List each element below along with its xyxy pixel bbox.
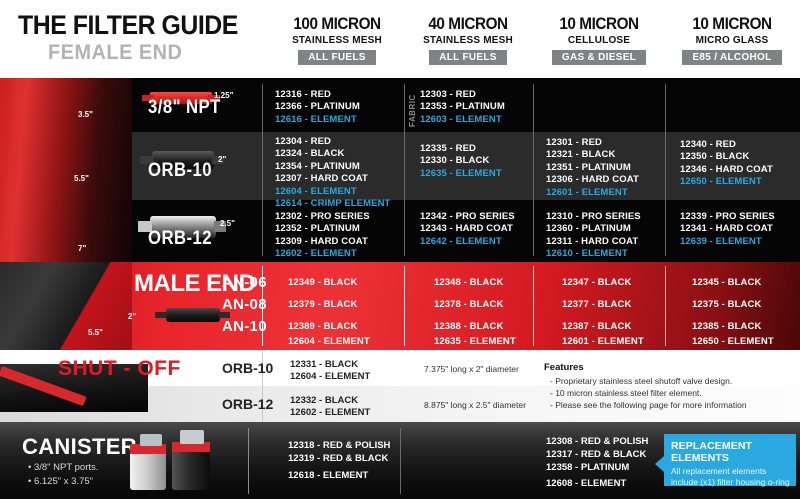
part-number: 12342 - PRO SERIES — [420, 211, 515, 223]
male-end-part-c4-r1: 12345 - BLACK — [692, 277, 761, 288]
canister-part-c3-1: 12308 - RED & POLISH — [546, 436, 648, 447]
canister-bullet: • 6.125" x 3.75" — [28, 476, 93, 487]
callout-title: REPLACEMENT ELEMENTS — [664, 434, 796, 464]
element-part-number: 12603 - ELEMENT — [420, 114, 505, 126]
male-end-part-c3-r1: 12347 - BLACK — [562, 277, 631, 288]
features-title: Features — [544, 362, 584, 373]
part-number: 12343 - HARD COAT — [420, 223, 515, 235]
element-part-number: 12602 - ELEMENT — [275, 248, 370, 260]
male-end-part-c1-r3: 12389 - BLACK — [288, 321, 357, 332]
column-material-label: STAINLESS MESH — [404, 35, 532, 46]
part-number: 12321 - BLACK — [546, 149, 639, 161]
part-number: 12311 - HARD COAT — [546, 236, 641, 248]
column-divider — [533, 84, 534, 256]
shut-off-part-orb12: 12332 - BLACK — [290, 395, 358, 406]
part-number: 12309 - HARD COAT — [275, 236, 370, 248]
column-material-label: CELLULOSE — [534, 35, 664, 46]
male-end-table: MALE END 5.5" 2" AN-06 AN-08 AN-10 12349… — [0, 262, 800, 350]
red-filter-photo — [0, 78, 132, 262]
part-number: 12351 - PLATINUM — [546, 162, 639, 174]
column-micron-label: 10 MICRON — [541, 14, 658, 34]
canister-bracket-icon — [140, 434, 162, 446]
column-divider — [533, 266, 534, 346]
part-number: 12307 - HARD COAT — [275, 173, 390, 185]
male-end-element-c4: 12650 - ELEMENT — [692, 336, 774, 347]
element-part-number: 12616 - ELEMENT — [275, 114, 360, 126]
dimension-length-male-end: 5.5" — [88, 328, 103, 337]
column-fuel-badge: GAS & DIESEL — [552, 50, 646, 65]
cell-npt-40micron: 12303 - RED 12353 - PLATINUM 12603 - ELE… — [420, 89, 505, 126]
dimension-length-npt: 3.5" — [78, 110, 93, 119]
part-number: 12354 - PLATINUM — [275, 161, 390, 173]
cell-orb10-40micron: 12335 - RED 12330 - BLACK 12635 - ELEMEN… — [420, 143, 502, 180]
part-number: 12352 - PLATINUM — [275, 223, 370, 235]
part-number: 12303 - RED — [420, 89, 505, 101]
shut-off-part-orb10: 12331 - BLACK — [290, 359, 358, 370]
column-header-10-micron-cellulose: 10 MICRON CELLULOSE GAS & DIESEL — [534, 14, 664, 65]
features-item: - Please see the following page for more… — [550, 400, 747, 410]
shut-off-dimension-orb10: 7.375" long x 2" diameter — [424, 364, 519, 374]
male-end-part-c1-r1: 12349 - BLACK — [288, 277, 357, 288]
column-material-label: MICRO GLASS — [666, 35, 798, 46]
part-number: 12366 - PLATINUM — [275, 101, 360, 113]
cell-orb10-100micron: 12304 - RED 12324 - BLACK 12354 - PLATIN… — [275, 136, 390, 210]
row-size-label-npt: 3/8" NPT — [148, 97, 221, 119]
element-part-number: 12610 - ELEMENT — [546, 248, 641, 260]
section-title-shut-off: SHUT - OFF — [58, 357, 181, 381]
shut-off-element-orb12: 12602 - ELEMENT — [290, 407, 370, 418]
cell-orb10-10micron-microglass: 12340 - RED 12350 - BLACK 12346 - HARD C… — [680, 139, 773, 189]
male-end-part-c1-r2: 12379 - BLACK — [288, 299, 357, 310]
part-number: 12316 - RED — [275, 89, 360, 101]
element-part-number: 12604 - ELEMENT — [275, 186, 390, 198]
male-end-part-c3-r3: 12387 - BLACK — [562, 321, 631, 332]
element-part-number: 12601 - ELEMENT — [546, 187, 639, 199]
column-fuel-badge: E85 / ALCOHOL — [682, 50, 781, 65]
canister-bracket-icon — [180, 430, 204, 444]
part-number: 12360 - PLATINUM — [546, 223, 641, 235]
part-number: 12341 - HARD COAT — [680, 223, 775, 235]
dimension-diameter-orb12: 2.5" — [220, 219, 235, 228]
dimension-diameter-male-end: 2" — [128, 312, 136, 321]
shut-off-element-orb10: 12604 - ELEMENT — [290, 371, 370, 382]
section-title-female-end: FEMALE END — [48, 41, 182, 65]
row-size-label-orb10: ORB-10 — [148, 160, 212, 182]
part-number: 12301 - RED — [546, 137, 639, 149]
column-divider — [665, 266, 666, 346]
canister-element-c3: 12608 - ELEMENT — [546, 478, 626, 489]
cell-npt-100micron: 12316 - RED 12366 - PLATINUM 12616 - ELE… — [275, 89, 360, 126]
part-number: 12306 - HARD COAT — [546, 174, 639, 186]
column-divider — [665, 84, 666, 256]
features-item: - Proprietary stainless steel shutoff va… — [550, 376, 732, 386]
column-divider — [248, 428, 249, 494]
shut-off-dimension-orb12: 8.875" long x 2.5" diameter — [424, 400, 526, 410]
part-number: 12302 - PRO SERIES — [275, 211, 370, 223]
element-part-number: 12639 - ELEMENT — [680, 236, 775, 248]
dimension-diameter-orb10: 2" — [218, 155, 226, 164]
column-header-40-micron: 40 MICRON STAINLESS MESH ALL FUELS — [404, 14, 532, 65]
column-divider — [262, 84, 263, 256]
part-number: 12310 - PRO SERIES — [546, 211, 641, 223]
male-end-element-c3: 12601 - ELEMENT — [562, 336, 644, 347]
dimension-length-orb12: 7" — [78, 244, 86, 253]
crimp-element-part-number: 12614 - CRIMP ELEMENT — [275, 198, 390, 210]
row-size-label-orb12: ORB-12 — [148, 228, 212, 250]
filter-guide-sheet: THE FILTER GUIDE FEMALE END 100 MICRON S… — [0, 0, 800, 499]
product-endcap-left — [155, 312, 167, 318]
column-material-label: STAINLESS MESH — [272, 35, 402, 46]
canister-photo-polish — [130, 448, 166, 490]
column-fuel-badge: ALL FUELS — [298, 50, 376, 65]
column-micron-label: 10 MICRON — [673, 14, 792, 34]
male-end-size-an08: AN-08 — [222, 296, 267, 313]
canister-part-c3-2: 12317 - RED & BLACK — [546, 449, 646, 460]
page-title: THE FILTER GUIDE — [18, 10, 238, 41]
canister-bullet: • 3/8" NPT ports. — [28, 462, 98, 473]
male-end-part-c4-r3: 12385 - BLACK — [692, 321, 761, 332]
column-micron-label: 100 MICRON — [279, 14, 396, 34]
column-divider — [404, 266, 405, 346]
header-band: THE FILTER GUIDE FEMALE END 100 MICRON S… — [0, 0, 800, 78]
canister-element-c1: 12618 - ELEMENT — [288, 470, 368, 481]
shut-off-table: SHUT - OFF ORB-10 ORB-12 12331 - BLACK 1… — [0, 350, 800, 422]
male-end-part-c2-r2: 12378 - BLACK — [434, 299, 503, 310]
cell-orb12-10micron-microglass: 12339 - PRO SERIES 12341 - HARD COAT 126… — [680, 211, 775, 248]
element-part-number: 12642 - ELEMENT — [420, 236, 515, 248]
element-part-number: 12650 - ELEMENT — [680, 176, 773, 188]
cell-orb12-40micron: 12342 - PRO SERIES 12343 - HARD COAT 126… — [420, 211, 515, 248]
section-title-canister: CANISTER — [22, 434, 137, 460]
male-end-part-c3-r2: 12377 - BLACK — [562, 299, 631, 310]
canister-part-c1-2: 12319 - RED & BLACK — [288, 453, 388, 464]
product-image-male-end — [166, 308, 220, 322]
male-end-part-c2-r1: 12348 - BLACK — [434, 277, 503, 288]
column-header-100-micron: 100 MICRON STAINLESS MESH ALL FUELS — [272, 14, 402, 65]
male-end-part-c2-r3: 12388 - BLACK — [434, 321, 503, 332]
part-number: 12335 - RED — [420, 143, 502, 155]
male-end-size-an10: AN-10 — [222, 318, 267, 335]
fabric-tag-label: FABRIC — [408, 89, 417, 127]
male-end-part-c4-r2: 12375 - BLACK — [692, 299, 761, 310]
part-number: 12339 - PRO SERIES — [680, 211, 775, 223]
column-divider — [404, 84, 405, 256]
canister-part-c3-3: 12358 - PLATINUM — [546, 462, 629, 473]
part-number: 12304 - RED — [275, 136, 390, 148]
column-fuel-badge: ALL FUELS — [429, 50, 507, 65]
cell-orb12-10micron-cellulose: 12310 - PRO SERIES 12360 - PLATINUM 1231… — [546, 211, 641, 261]
replacement-elements-callout: REPLACEMENT ELEMENTS All replacement ele… — [664, 434, 796, 486]
column-micron-label: 40 MICRON — [410, 14, 525, 34]
male-end-size-an06: AN-06 — [222, 274, 267, 291]
canister-part-c1-1: 12318 - RED & POLISH — [288, 440, 390, 451]
part-number: 12346 - HARD COAT — [680, 164, 773, 176]
dimension-length-orb10: 5.5" — [74, 174, 89, 183]
male-end-fitting-photo — [0, 262, 132, 350]
features-item: - 10 micron stainless steel filter eleme… — [550, 388, 702, 398]
column-header-10-micron-micro-glass: 10 MICRON MICRO GLASS E85 / ALCOHOL — [666, 14, 798, 65]
cell-orb10-10micron-cellulose: 12301 - RED 12321 - BLACK 12351 - PLATIN… — [546, 137, 639, 199]
element-part-number: 12635 - ELEMENT — [420, 168, 502, 180]
column-divider — [400, 428, 401, 494]
male-end-element-c2: 12635 - ELEMENT — [434, 336, 516, 347]
part-number: 12350 - BLACK — [680, 151, 773, 163]
female-end-table: 3.5" 1.25" 3/8" NPT 12316 - RED 12366 - … — [0, 78, 800, 262]
part-number: 12340 - RED — [680, 139, 773, 151]
shut-off-size-orb12: ORB-12 — [222, 396, 273, 412]
male-end-element-c1: 12604 - ELEMENT — [288, 336, 370, 347]
part-number: 12330 - BLACK — [420, 155, 502, 167]
canister-photo-black — [172, 446, 210, 490]
shut-off-size-orb10: ORB-10 — [222, 360, 273, 376]
part-number: 12353 - PLATINUM — [420, 101, 505, 113]
cell-orb12-100micron: 12302 - PRO SERIES 12352 - PLATINUM 1230… — [275, 211, 370, 261]
callout-body: All replacement elements include (x1) fi… — [664, 464, 796, 488]
part-number: 12324 - BLACK — [275, 148, 390, 160]
